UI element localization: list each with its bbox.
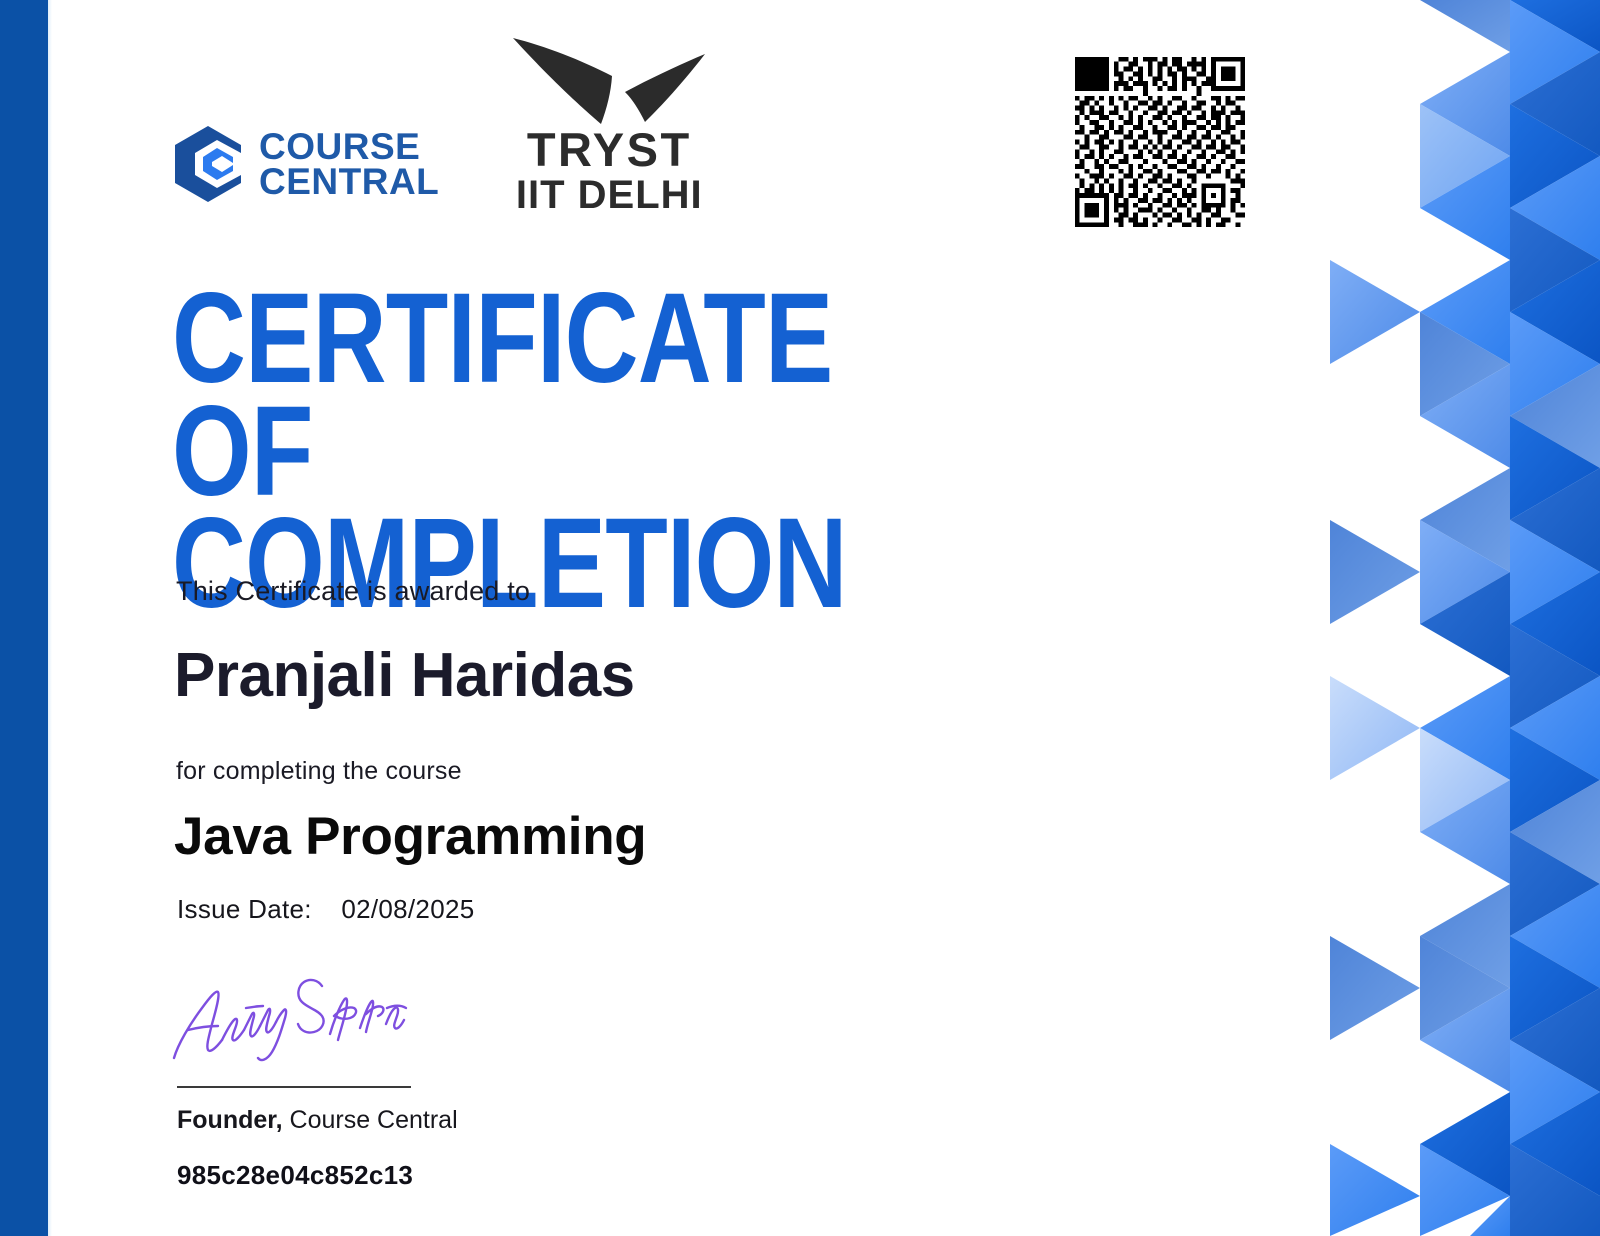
- certificate-page: COURSE CENTRAL TRYST IIT DELHI: [0, 0, 1600, 1236]
- signer-org: Course Central: [290, 1106, 458, 1134]
- signature-image: [168, 958, 408, 1068]
- triangle-mosaic-decoration: [1330, 0, 1600, 1236]
- left-accent-stripe: [0, 0, 48, 1236]
- signer-caption: Founder, Course Central: [177, 1106, 458, 1135]
- brand-line-2: CENTRAL: [259, 161, 439, 202]
- course-name: Java Programming: [174, 806, 646, 867]
- header-logos: COURSE CENTRAL TRYST IIT DELHI: [175, 28, 707, 216]
- hexagon-c-icon: [175, 126, 241, 202]
- tryst-swoosh-icon: [511, 34, 707, 126]
- issue-date-row: Issue Date: 02/08/2025: [177, 894, 474, 925]
- signature-rule: [177, 1086, 411, 1088]
- certificate-id: 985c28e04c852c13: [177, 1160, 413, 1191]
- course-central-wordmark: COURSE CENTRAL: [259, 129, 439, 199]
- issue-date-label: Issue Date:: [177, 894, 312, 924]
- qr-code-icon[interactable]: [1070, 52, 1250, 232]
- left-stripe-edge: [48, 0, 52, 1236]
- issue-date-value: 02/08/2025: [341, 894, 474, 924]
- course-central-logo: COURSE CENTRAL: [175, 126, 439, 202]
- title-line-2: COMPLETION: [172, 492, 847, 635]
- tryst-iit-delhi-logo: TRYST IIT DELHI: [511, 34, 707, 216]
- tryst-name: TRYST: [511, 126, 707, 174]
- awarded-to-label: This Certificate is awarded to: [176, 576, 530, 607]
- signer-role: Founder,: [177, 1106, 283, 1134]
- title-line-1: CERTIFICATE OF: [172, 267, 833, 523]
- recipient-name: Pranjali Haridas: [174, 640, 635, 711]
- course-label: for completing the course: [176, 757, 462, 786]
- page-title: CERTIFICATE OF COMPLETION: [172, 283, 892, 621]
- tryst-subtitle: IIT DELHI: [511, 174, 707, 216]
